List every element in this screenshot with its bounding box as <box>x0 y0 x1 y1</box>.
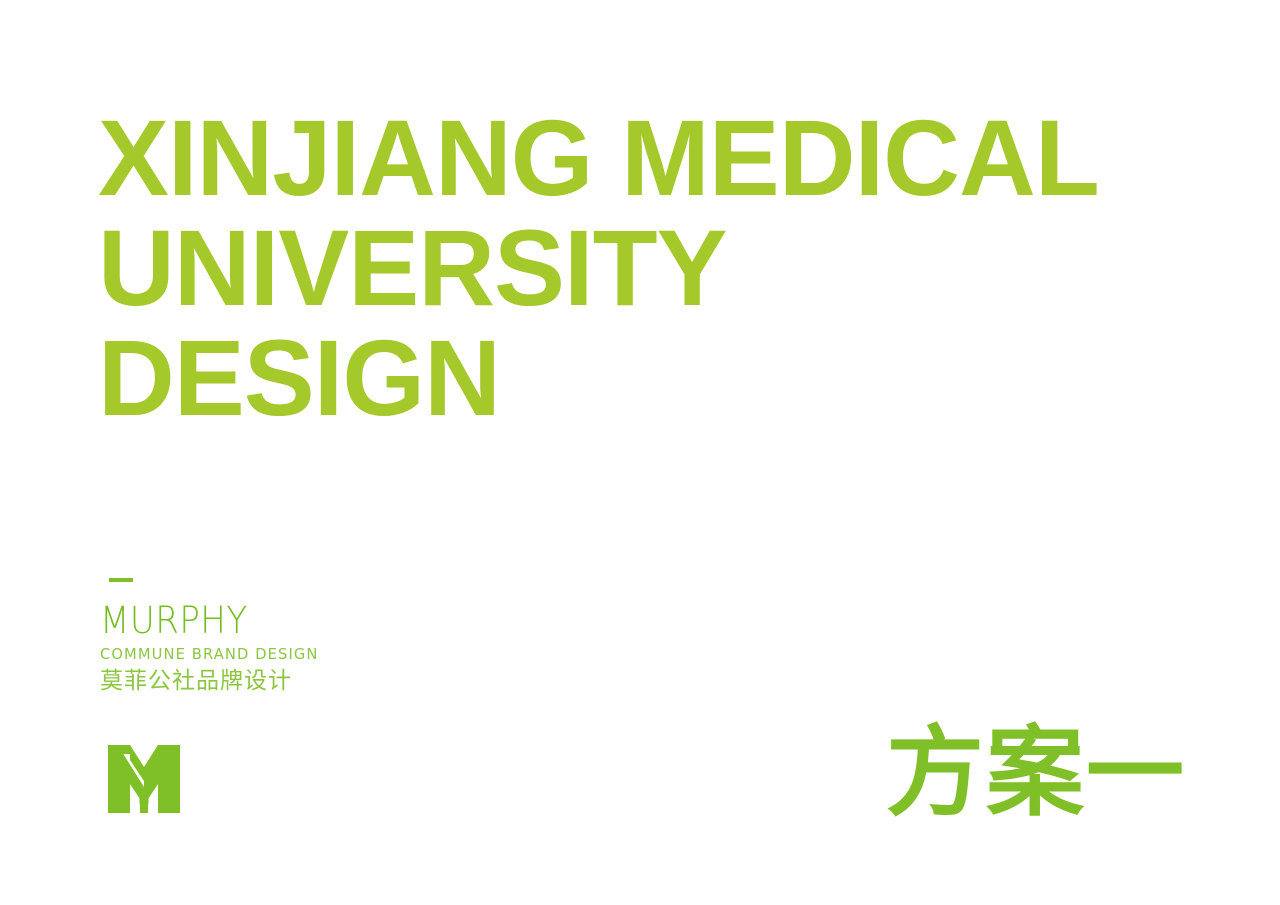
headline-line-1: XINJIANG MEDICAL <box>98 103 1182 213</box>
scheme-label: 方案一 <box>886 721 1186 825</box>
agency-tagline-chinese: 莫菲公社品牌设计 <box>100 668 400 694</box>
headline-line-3: DESIGN <box>98 323 1182 433</box>
agency-wordmark: MURPHY <box>100 604 376 638</box>
cover-slide: XINJIANG MEDICAL UNIVERSITY DESIGN MURPH… <box>0 0 1280 905</box>
murphy-m-monogram-icon <box>108 745 180 813</box>
agency-logo-lockup: MURPHY COMMUNE BRAND DESIGN 莫菲公社品牌设计 <box>100 578 400 694</box>
logo-dash-rule <box>109 578 133 582</box>
page-title: XINJIANG MEDICAL UNIVERSITY DESIGN <box>98 103 1198 433</box>
headline-line-2: UNIVERSITY <box>98 213 1182 323</box>
agency-tagline-english: COMMUNE BRAND DESIGN <box>100 646 385 663</box>
